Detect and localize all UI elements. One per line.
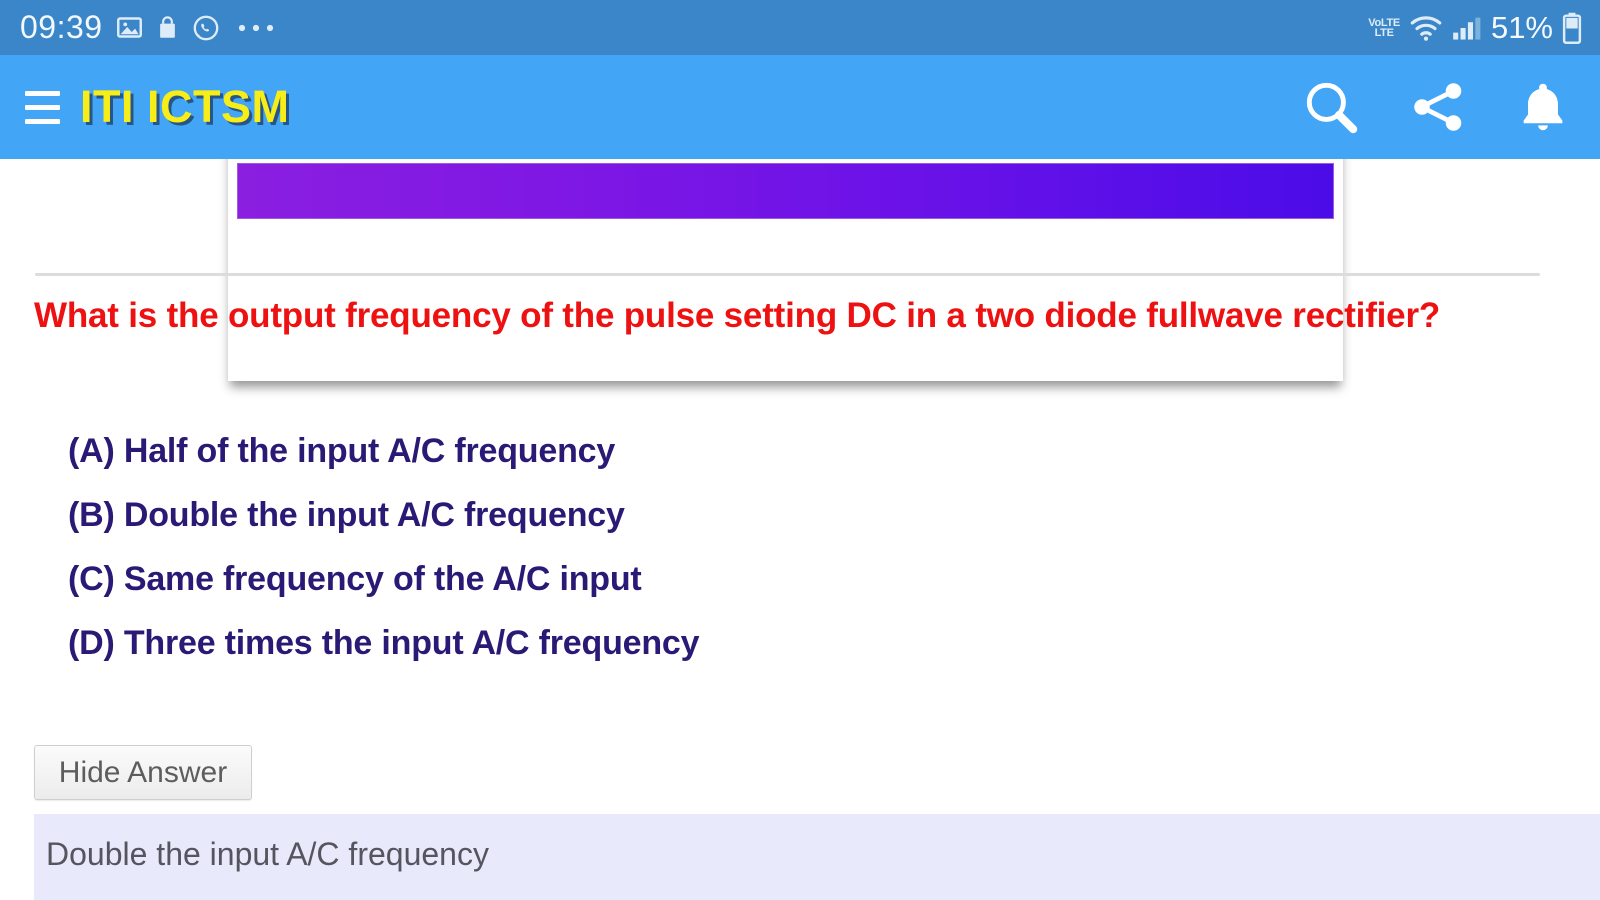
app-bar-actions (1300, 76, 1572, 138)
volte-icon: VoLTE LTE (1368, 18, 1400, 38)
battery-icon (1562, 12, 1582, 44)
options-list: (A) Half of the input A/C frequency (B) … (68, 419, 1368, 675)
app-bar: ITI ICTSM (0, 55, 1600, 159)
shopping-bag-icon (156, 15, 179, 41)
battery-percent: 51% (1491, 10, 1553, 46)
phone-screen: 09:39 (0, 0, 1600, 900)
signal-bars-icon (1452, 15, 1482, 41)
section-divider (35, 273, 1540, 276)
hide-answer-button[interactable]: Hide Answer (34, 745, 252, 800)
option-b[interactable]: (B) Double the input A/C frequency (68, 483, 1368, 547)
status-bar-left: 09:39 (20, 9, 277, 46)
option-d[interactable]: (D) Three times the input A/C frequency (68, 611, 1368, 675)
answer-text: Double the input A/C frequency (46, 836, 489, 873)
banner-card (228, 159, 1343, 381)
page-content: What is the output frequency of the puls… (0, 159, 1600, 900)
status-bar: 09:39 (0, 0, 1600, 55)
more-dots-icon (233, 23, 277, 33)
search-icon[interactable] (1300, 76, 1362, 138)
notification-bell-icon[interactable] (1514, 78, 1572, 136)
app-title: ITI ICTSM (80, 81, 289, 133)
whatsapp-icon (192, 14, 220, 42)
volte-label-bottom: LTE (1375, 27, 1394, 39)
question-text: What is the output frequency of the puls… (34, 295, 1514, 337)
status-time: 09:39 (20, 9, 103, 46)
purple-gradient-banner (237, 163, 1334, 219)
share-icon[interactable] (1408, 77, 1468, 137)
option-c[interactable]: (C) Same frequency of the A/C input (68, 547, 1368, 611)
hamburger-menu-icon[interactable] (14, 79, 70, 135)
answer-box: Double the input A/C frequency (34, 814, 1600, 900)
option-a[interactable]: (A) Half of the input A/C frequency (68, 419, 1368, 483)
status-bar-right: VoLTE LTE 51% (1368, 10, 1586, 46)
photo-icon (116, 14, 143, 41)
wifi-icon (1409, 14, 1443, 42)
